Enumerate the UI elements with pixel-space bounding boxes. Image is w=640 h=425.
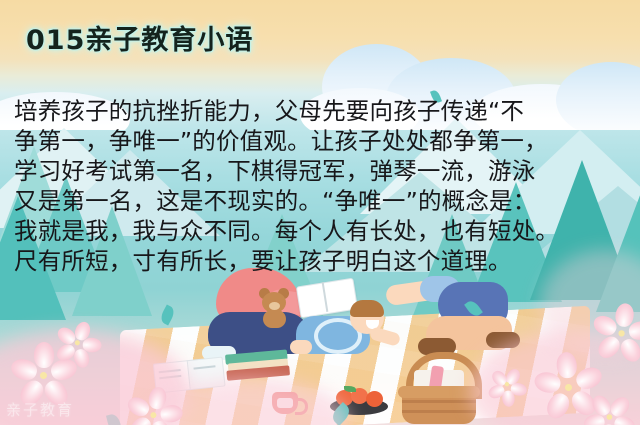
watermark: 亲子教育: [6, 399, 74, 420]
body-line: 培养孩子的抗挫折能力，父母先要向孩子传递“不: [14, 96, 630, 126]
cherry-blossom-icon: [599, 309, 640, 356]
cherry-blossom-icon: [60, 324, 93, 357]
cherry-blossom-icon: [540, 358, 598, 416]
body-text-block: 培养孩子的抗挫折能力，父母先要向孩子传递“不 争第一，争唯一”的价值观。让孩子处…: [14, 96, 630, 276]
cherry-blossom-icon: [132, 392, 175, 425]
body-line: 尺有所短，寸有所长，要让孩子明白这个道理。: [14, 246, 630, 276]
poster-canvas: 015亲子教育小语 培养孩子的抗挫折能力，父母先要向孩子传递“不 争第一，争唯一…: [0, 0, 640, 425]
body-line: 争第一，争唯一”的价值观。让孩子处处都争第一，: [14, 126, 630, 156]
body-line: 学习好考试第一名，下棋得冠军，弹琴一流，游泳: [14, 156, 630, 186]
cherry-blossom-icon: [494, 370, 519, 395]
body-line: 又是第一名，这是不现实的。“争唯一”的概念是：: [14, 186, 630, 216]
body-line: 我就是我，我与众不同。每个人有长处，也有短处。: [14, 216, 630, 246]
cherry-blossom-icon: [591, 397, 628, 425]
page-title: 015亲子教育小语: [26, 18, 253, 57]
